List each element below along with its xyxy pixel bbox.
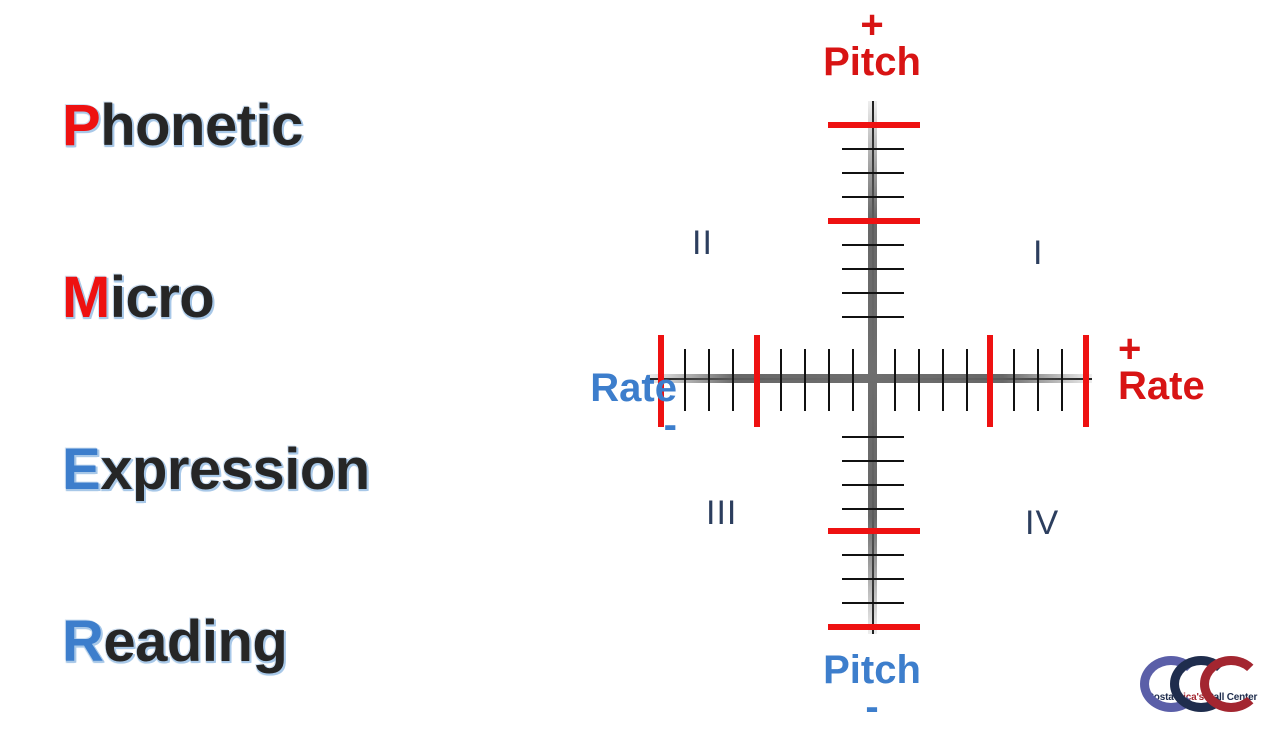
x-axis-minor-tick: [966, 349, 968, 411]
y-axis-minor-tick: [842, 508, 904, 510]
acronym-lead-letter-r: R: [62, 609, 103, 674]
y-axis-minor-tick: [842, 172, 904, 174]
y-axis-minor-tick: [842, 460, 904, 462]
x-axis-minor-tick: [1037, 349, 1039, 411]
axis-label-pitch-positive: + Pitch: [792, 8, 952, 82]
acronym-list: Phonetic Micro Expression Reading: [0, 0, 520, 720]
x-axis-major-tick-neg2: [754, 335, 760, 427]
acronym-rest-expression: xpression: [100, 437, 370, 502]
acronym-rest-reading: eading: [103, 609, 287, 674]
logo-c-red-icon: [1200, 656, 1262, 712]
x-axis-minor-tick: [1013, 349, 1015, 411]
x-axis-minor-tick: [894, 349, 896, 411]
y-axis-minor-tick: [842, 148, 904, 150]
logo-c-marks: [1138, 656, 1266, 694]
axis-label-rate-positive: + Rate: [1110, 332, 1280, 406]
quadrant-label-ii: II: [692, 224, 713, 263]
acronym-lead-letter-p: P: [62, 93, 100, 158]
acronym-item-expression: Expression: [62, 436, 370, 503]
x-axis-minor-tick: [804, 349, 806, 411]
acronym-rest-phonetic: honetic: [100, 93, 303, 158]
y-axis-minor-tick: [842, 554, 904, 556]
acronym-item-phonetic: Phonetic: [62, 92, 303, 159]
plus-sign-icon: +: [1110, 332, 1280, 366]
x-axis-major-tick-pos2: [987, 335, 993, 427]
x-axis-minor-tick: [942, 349, 944, 411]
y-axis-major-tick-pos4: [828, 122, 920, 128]
minus-sign-icon: -: [515, 408, 685, 442]
y-axis-minor-tick: [842, 484, 904, 486]
x-axis-minor-tick: [708, 349, 710, 411]
minus-sign-icon: -: [792, 690, 952, 724]
axis-label-rate-left-text: Rate: [515, 368, 685, 408]
acronym-item-reading: Reading: [62, 608, 287, 675]
x-axis-minor-tick: [1061, 349, 1063, 411]
acronym-rest-micro: icro: [110, 265, 214, 330]
quadrant-label-iv: IV: [1025, 504, 1059, 543]
y-axis-minor-tick: [842, 316, 904, 318]
y-axis-minor-tick: [842, 268, 904, 270]
y-axis-minor-tick: [842, 578, 904, 580]
plus-sign-icon: +: [792, 8, 952, 42]
y-axis-minor-tick: [842, 292, 904, 294]
y-axis-minor-tick: [842, 244, 904, 246]
x-axis-minor-tick: [828, 349, 830, 411]
quadrant-label-i: I: [1033, 234, 1043, 273]
axis-label-pitch-bottom-text: Pitch: [792, 650, 952, 690]
pitch-rate-quadrant-chart: + Pitch Pitch - Rate - + Rate I II III I…: [520, 0, 1280, 720]
y-axis-minor-tick: [842, 196, 904, 198]
acronym-lead-letter-m: M: [62, 265, 110, 330]
x-axis-minor-tick: [852, 349, 854, 411]
quadrant-label-iii: III: [706, 494, 737, 533]
y-axis-major-tick-neg2: [828, 528, 920, 534]
x-axis-minor-tick: [732, 349, 734, 411]
y-axis-major-tick-pos2: [828, 218, 920, 224]
x-axis-major-tick-pos4: [1083, 335, 1089, 427]
axis-label-pitch-top-text: Pitch: [792, 42, 952, 82]
y-axis-major-tick-neg4: [828, 624, 920, 630]
axis-label-pitch-negative: Pitch -: [792, 650, 952, 724]
axis-label-rate-negative: Rate -: [515, 368, 685, 442]
acronym-lead-letter-e: E: [62, 437, 100, 502]
costa-rica-call-center-logo: Costa Rica's Call Center: [1138, 656, 1266, 712]
x-axis-minor-tick: [918, 349, 920, 411]
y-axis-minor-tick: [842, 602, 904, 604]
x-axis-minor-tick: [780, 349, 782, 411]
axis-label-rate-right-text: Rate: [1110, 366, 1280, 406]
acronym-item-micro: Micro: [62, 264, 214, 331]
y-axis-minor-tick: [842, 436, 904, 438]
